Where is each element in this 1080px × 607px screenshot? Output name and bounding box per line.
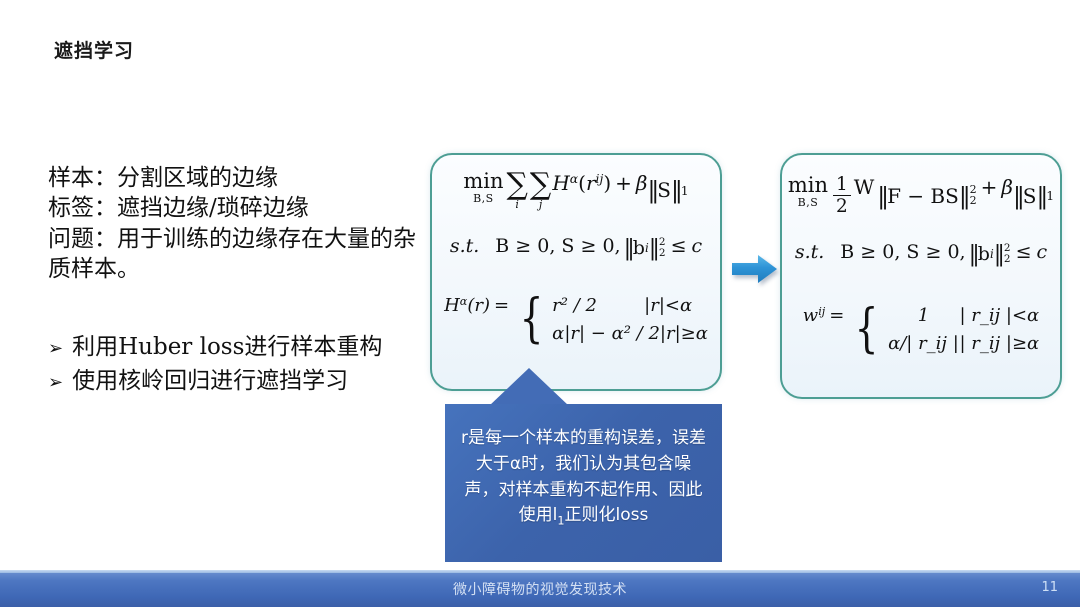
cases-rows: 1 | r_ij |<α α/| r_ij | | r_ij |≥α: [887, 305, 1039, 354]
formula-box-weighted: min B,S 1 2 W ‖F − BS‖ 2 2 + β ‖S‖1 s.: [780, 153, 1062, 399]
constraint-nonneg: B ≥ 0, S ≥ 0,: [495, 235, 620, 261]
subject-to-label: s.t.: [450, 235, 479, 261]
norm-inner-expression: F − BS: [887, 184, 959, 208]
norm-index-stack: 2 2: [1004, 244, 1011, 264]
norm-index-stack: 2 2: [659, 238, 666, 258]
subject-to-label: s.t.: [795, 241, 824, 267]
case-condition: |r|<α: [644, 295, 692, 316]
right-arrow-icon: [732, 253, 778, 285]
weight-lhs-subscript: ij: [818, 305, 825, 354]
arrow-bullet-icon: ➢: [48, 374, 63, 392]
norm-variable: S: [1023, 184, 1037, 208]
callout-box: r是每一个样本的重构误差，误差大于α时，我们认为其包含噪声，对样本重构不起作用、…: [445, 404, 722, 562]
callout-pointer-triangle: [489, 368, 569, 406]
norm-b-squared: ‖bi‖ 2 2: [624, 235, 666, 261]
case-row: r² / 2 |r|<α: [552, 295, 708, 316]
relation-leq: ≤: [1016, 241, 1032, 267]
fraction-one-half: 1 2: [833, 175, 851, 217]
norm-subscript: 2: [659, 249, 666, 258]
beta-symbol: β: [636, 171, 648, 210]
page-title: 遮挡学习: [54, 36, 134, 63]
huber-function-symbol: H: [552, 171, 569, 210]
left-brace-icon: {: [520, 301, 544, 338]
norm-variable: b: [978, 243, 990, 265]
norm-bars-close: ‖: [649, 235, 658, 261]
summation-j: ∑ j: [530, 171, 551, 210]
norm-bars-open: ‖: [624, 235, 633, 261]
huber-lhs-subscript: α: [460, 295, 468, 344]
equation-objective-right: min B,S 1 2 W ‖F − BS‖ 2 2 + β ‖S‖1: [782, 175, 1060, 217]
cases-rows: r² / 2 |r|<α α|r| − α² / 2 |r|≥α: [552, 295, 708, 344]
equals-sign: =: [494, 295, 509, 344]
case-condition: |r|≥α: [660, 323, 708, 344]
footer-bar: 微小障碍物的视觉发现技术 11: [0, 570, 1080, 607]
case-row: α/| r_ij | | r_ij |≥α: [887, 333, 1039, 354]
norm-subscript: 1: [681, 183, 689, 198]
fraction-numerator: 1: [833, 175, 851, 196]
fraction-denominator: 2: [833, 196, 851, 216]
norm-index-stack: 2 2: [970, 185, 977, 206]
callout-text: r是每一个样本的重构误差，误差大于α时，我们认为其包含噪声，对样本重构不起作用、…: [445, 426, 722, 530]
frobenius-norm-residual: ‖F − BS‖ 2 2: [877, 175, 976, 217]
paren-close: ): [603, 171, 611, 210]
piecewise-cases-huber: { r² / 2 |r|<α α|r| − α² / 2 |r|≥α: [515, 295, 708, 344]
bullet-label: 使用核岭回归进行遮挡学习: [72, 364, 348, 398]
piecewise-cases-weights: { 1 | r_ij |<α α/| r_ij | | r_ij |≥α: [850, 305, 1039, 354]
case-value: r² / 2: [552, 295, 644, 316]
norm-bars-close: ‖: [959, 182, 969, 210]
huber-lhs-argument: (r): [467, 295, 490, 344]
list-item: ➢ 利用Huber loss进行样本重构: [48, 330, 438, 364]
case-row: α|r| − α² / 2 |r|≥α: [552, 323, 708, 344]
norm-subscript: 2: [1004, 255, 1011, 264]
beta-symbol: β: [1001, 175, 1013, 217]
norm-bars-close: ‖: [1036, 182, 1046, 210]
residual-subscript: ij: [596, 171, 604, 210]
case-value: α/| r_ij |: [887, 333, 959, 354]
definition-text-block: 样本：分割区域的边缘 标签：遮挡边缘/琐碎边缘 问题：用于训练的边缘存在大量的杂…: [48, 163, 418, 284]
definition-line-label: 标签：遮挡边缘/琐碎边缘: [48, 193, 418, 223]
case-condition: | r_ij |≥α: [959, 333, 1039, 354]
weight-matrix-symbol: W: [854, 175, 875, 217]
norm-bars-close: ‖: [994, 241, 1003, 267]
norm-subscript: 2: [970, 196, 977, 206]
bullet-list: ➢ 利用Huber loss进行样本重构 ➢ 使用核岭回归进行遮挡学习: [48, 330, 438, 398]
huber-lhs-symbol: H: [444, 295, 460, 344]
list-item: ➢ 使用核岭回归进行遮挡学习: [48, 364, 438, 398]
norm-subscript: 1: [1046, 188, 1054, 203]
relation-leq: ≤: [671, 235, 687, 261]
definition-line-sample: 样本：分割区域的边缘: [48, 163, 418, 193]
left-brace-icon: {: [855, 311, 879, 348]
bullet-label: 利用Huber loss进行样本重构: [72, 330, 382, 364]
l1-norm-S: ‖S‖1: [647, 171, 688, 210]
norm-variable: S: [657, 178, 671, 202]
residual-symbol: r: [586, 171, 596, 210]
arrow-bullet-icon: ➢: [48, 340, 63, 358]
slide-canvas: 遮挡学习 样本：分割区域的边缘 标签：遮挡边缘/琐碎边缘 问题：用于训练的边缘存…: [0, 0, 1080, 607]
footer-divider: [0, 570, 1080, 573]
norm-bars-open: ‖: [969, 241, 978, 267]
norm-variable: b: [633, 237, 645, 259]
plus-sign: +: [981, 175, 998, 217]
equation-weight-definition: wij = { 1 | r_ij |<α α/| r_ij | | r_ij |…: [782, 305, 1060, 354]
weight-lhs-symbol: w: [803, 305, 818, 354]
definition-line-problem: 问题：用于训练的边缘存在大量的杂质样本。: [48, 224, 418, 285]
equation-constraint-left: s.t. B ≥ 0, S ≥ 0, ‖bi‖ 2 2 ≤ c: [432, 235, 720, 261]
constraint-nonneg: B ≥ 0, S ≥ 0,: [840, 241, 965, 267]
norm-bars-open: ‖: [647, 176, 657, 204]
min-operator: min B,S: [788, 175, 828, 217]
paren-open: (: [578, 171, 586, 210]
huber-alpha-subscript: α: [570, 171, 578, 210]
plus-sign: +: [615, 171, 632, 210]
summation-i: ∑ i: [506, 171, 527, 210]
equals-sign: =: [829, 305, 844, 354]
callout-subscript: 1: [557, 515, 564, 528]
norm-bars-close: ‖: [671, 176, 681, 204]
bound-c: c: [1037, 241, 1048, 267]
case-row: 1 | r_ij |<α: [887, 305, 1039, 326]
page-number: 11: [1041, 580, 1058, 595]
formula-box-huber: min B,S ∑ i ∑ j Hα (rij) + β ‖S‖1 s.t. B…: [430, 153, 722, 391]
bound-c: c: [692, 235, 703, 261]
case-value: 1: [887, 305, 959, 326]
callout-text-part2: 正则化loss: [565, 505, 649, 525]
norm-bars-open: ‖: [1013, 182, 1023, 210]
l1-norm-S: ‖S‖1: [1013, 175, 1054, 217]
case-value: α|r| − α² / 2: [552, 323, 660, 344]
equation-objective-left: min B,S ∑ i ∑ j Hα (rij) + β ‖S‖1: [432, 171, 720, 210]
equation-constraint-right: s.t. B ≥ 0, S ≥ 0, ‖bi‖ 2 2 ≤ c: [782, 241, 1060, 267]
case-condition: | r_ij |<α: [959, 305, 1039, 326]
norm-b-squared: ‖bi‖ 2 2: [969, 241, 1011, 267]
norm-bars-open: ‖: [877, 182, 887, 210]
min-operator: min B,S: [463, 171, 503, 210]
footer-title: 微小障碍物的视觉发现技术: [0, 579, 1080, 599]
equation-huber-definition: Hα(r) = { r² / 2 |r|<α α|r| − α² / 2 |r|…: [432, 295, 720, 344]
